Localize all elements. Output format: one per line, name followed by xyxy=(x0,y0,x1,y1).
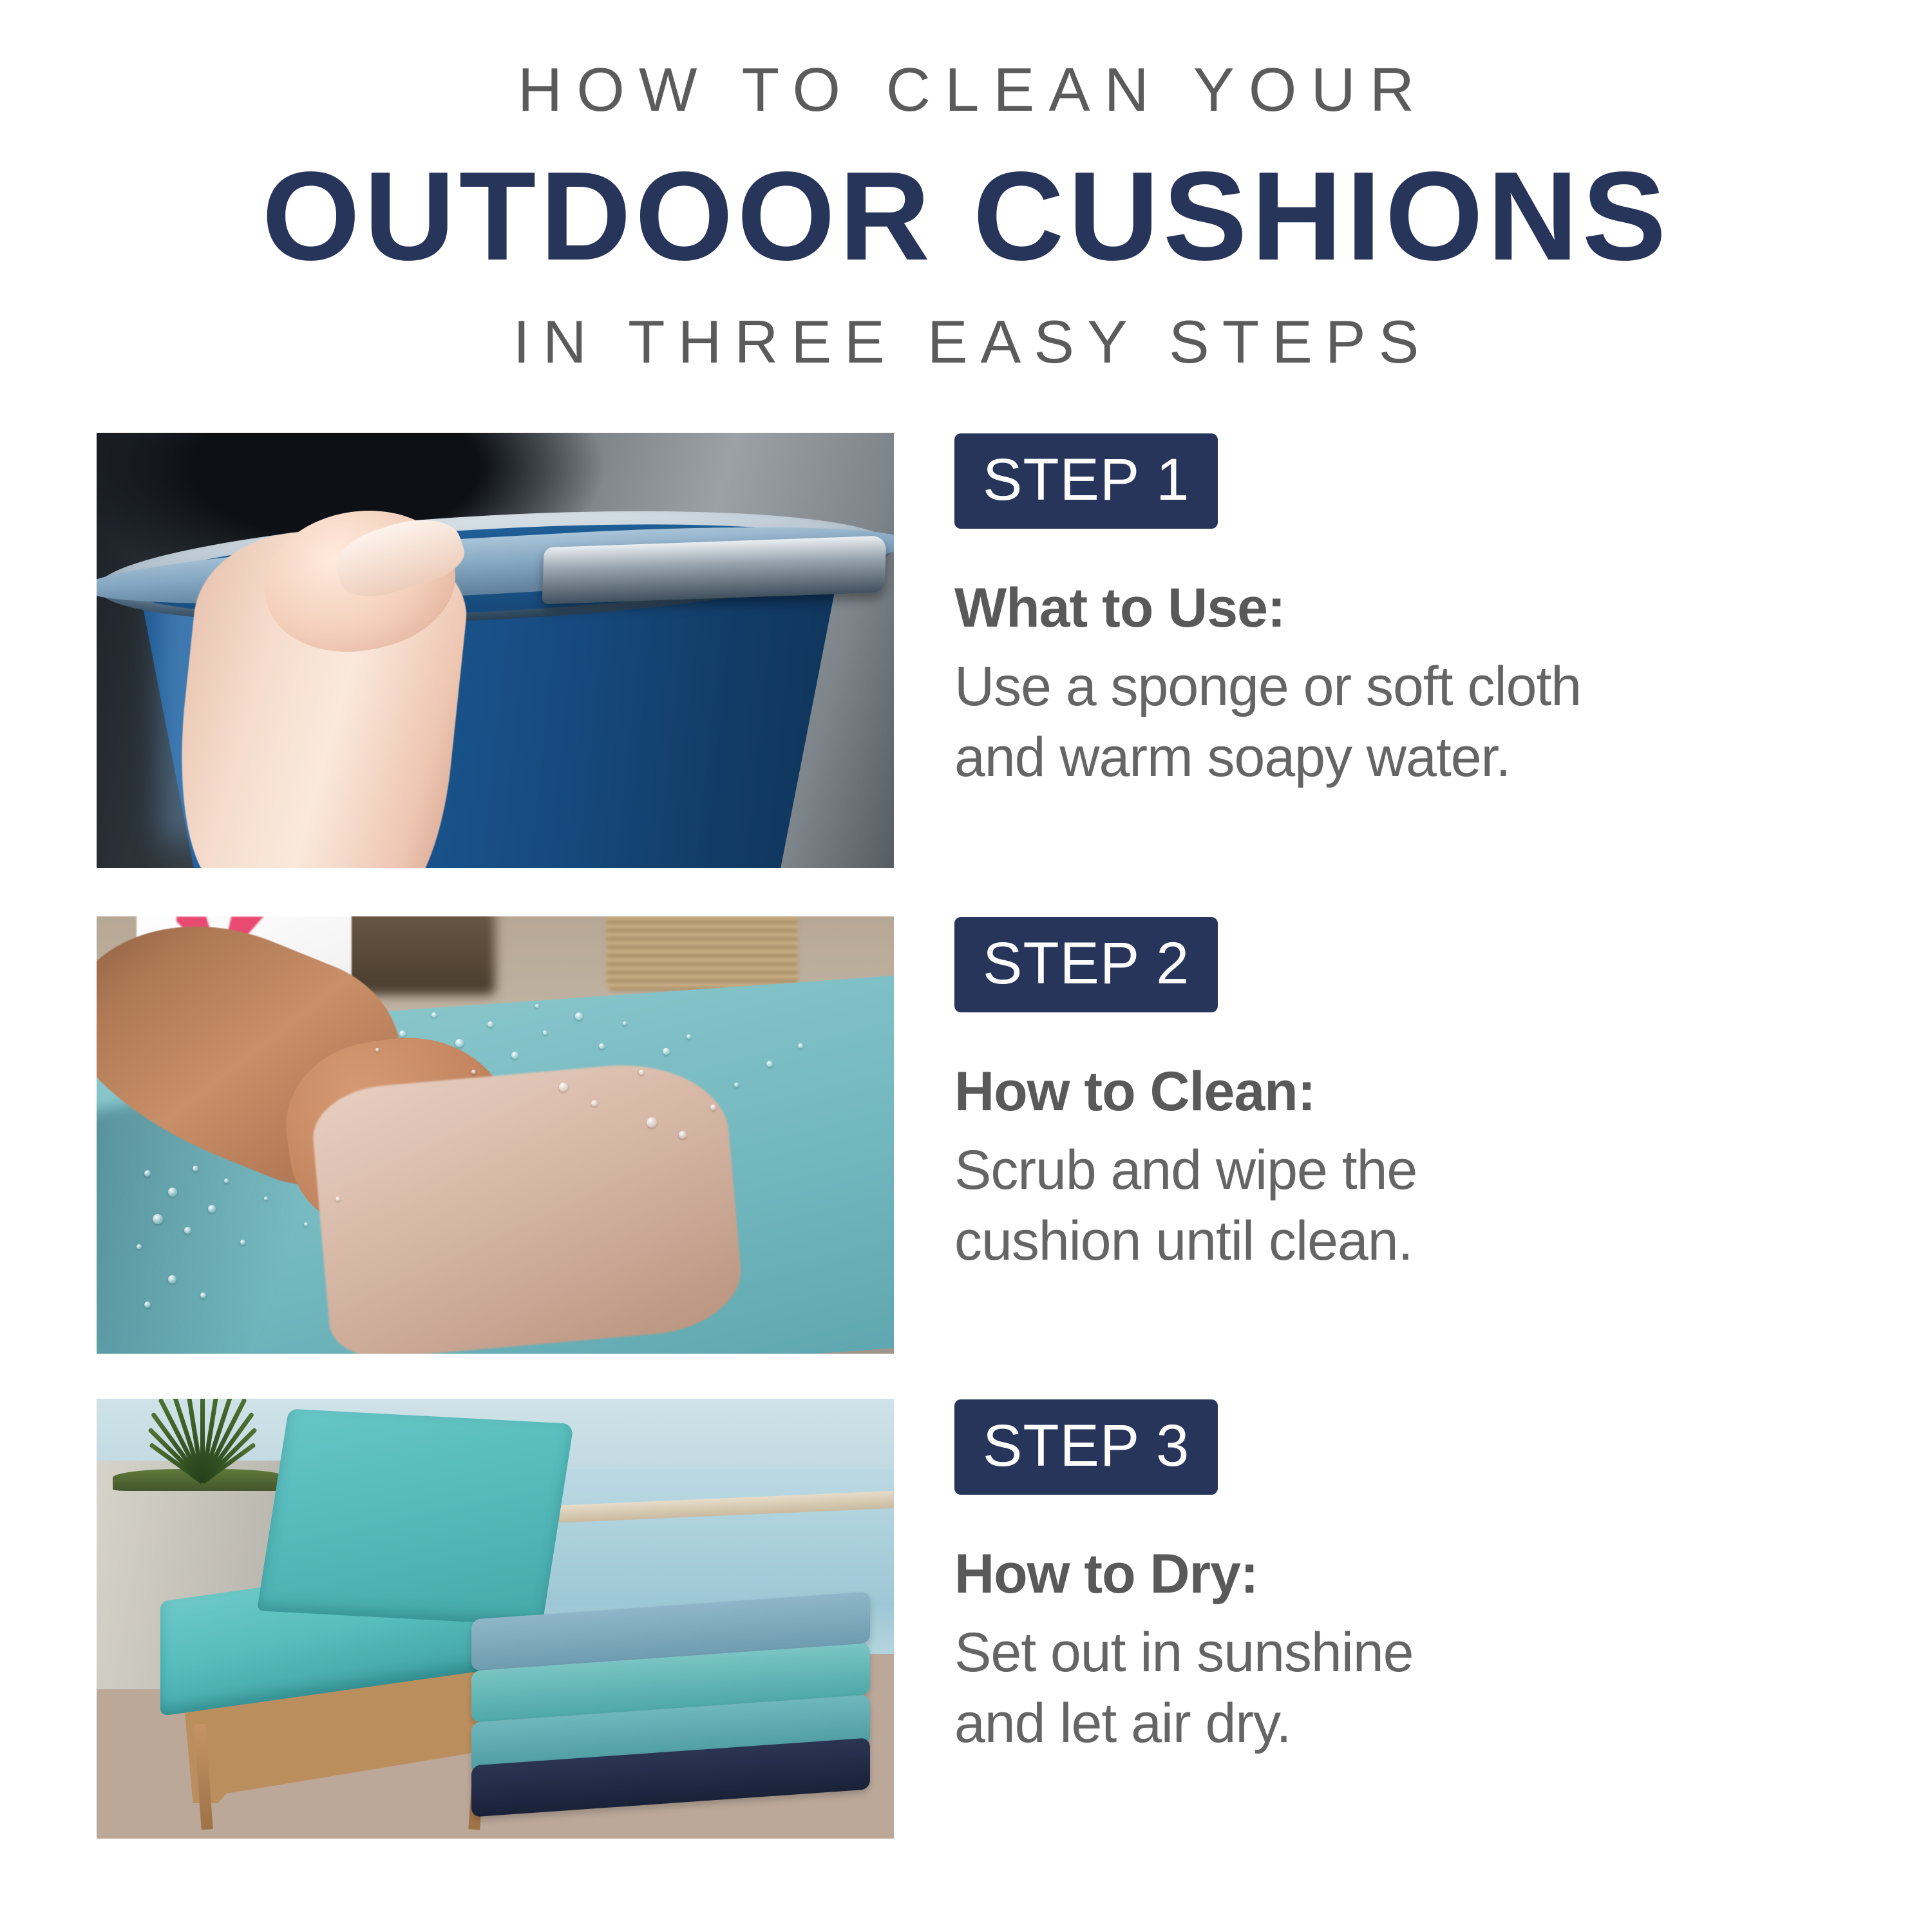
step-row-3: STEP 3 How to Dry: Set out in sunshine a… xyxy=(0,1399,1932,1839)
step-1-lede: What to Use: xyxy=(954,579,1869,637)
bucket-grip xyxy=(542,536,887,605)
header-subkicker: IN THREE EASY STEPS xyxy=(0,312,1932,372)
header: HOW TO CLEAN YOUR OUTDOOR CUSHIONS IN TH… xyxy=(0,0,1932,372)
step-3-detail: Set out in sunshine and let air dry. xyxy=(954,1617,1856,1759)
step-2-badge: STEP 2 xyxy=(954,917,1218,1012)
step-1-detail: Use a sponge or soft cloth and warm soap… xyxy=(954,651,1856,793)
step-3-content: STEP 3 How to Dry: Set out in sunshine a… xyxy=(954,1399,1869,1759)
step-3-badge: STEP 3 xyxy=(954,1399,1218,1495)
agave-plant xyxy=(113,1399,288,1482)
step-1-detail-line-2: and warm soapy water. xyxy=(954,722,1856,793)
step-2-detail-line-2: cushion until clean. xyxy=(954,1206,1856,1276)
chair-legs xyxy=(184,1724,519,1830)
header-kicker: HOW TO CLEAN YOUR xyxy=(0,59,1932,121)
water-droplets xyxy=(97,916,894,1354)
step-3-detail-line-1: Set out in sunshine xyxy=(954,1617,1856,1688)
step-1-detail-line-1: Use a sponge or soft cloth xyxy=(954,651,1856,722)
step-2-detail: Scrub and wipe the cushion until clean. xyxy=(954,1135,1856,1276)
step-2-photo xyxy=(97,916,894,1354)
chaise-back-cushion xyxy=(257,1409,574,1626)
step-3-detail-line-2: and let air dry. xyxy=(954,1688,1856,1759)
step-2-lede: How to Clean: xyxy=(954,1063,1869,1121)
step-2-detail-line-1: Scrub and wipe the xyxy=(954,1135,1856,1206)
step-1-content: STEP 1 What to Use: Use a sponge or soft… xyxy=(954,433,1869,793)
infographic-page: HOW TO CLEAN YOUR OUTDOOR CUSHIONS IN TH… xyxy=(0,0,1932,1932)
page-title: OUTDOOR CUSHIONS xyxy=(0,153,1932,279)
step-1-badge: STEP 1 xyxy=(954,433,1218,529)
stacked-cushions xyxy=(471,1605,870,1803)
step-row-1: STEP 1 What to Use: Use a sponge or soft… xyxy=(0,433,1932,868)
step-3-lede: How to Dry: xyxy=(954,1545,1869,1603)
step-3-photo xyxy=(97,1399,894,1839)
step-row-2: STEP 2 How to Clean: Scrub and wipe the … xyxy=(0,916,1932,1354)
step-1-photo xyxy=(97,433,894,868)
step-2-content: STEP 2 How to Clean: Scrub and wipe the … xyxy=(954,916,1869,1276)
